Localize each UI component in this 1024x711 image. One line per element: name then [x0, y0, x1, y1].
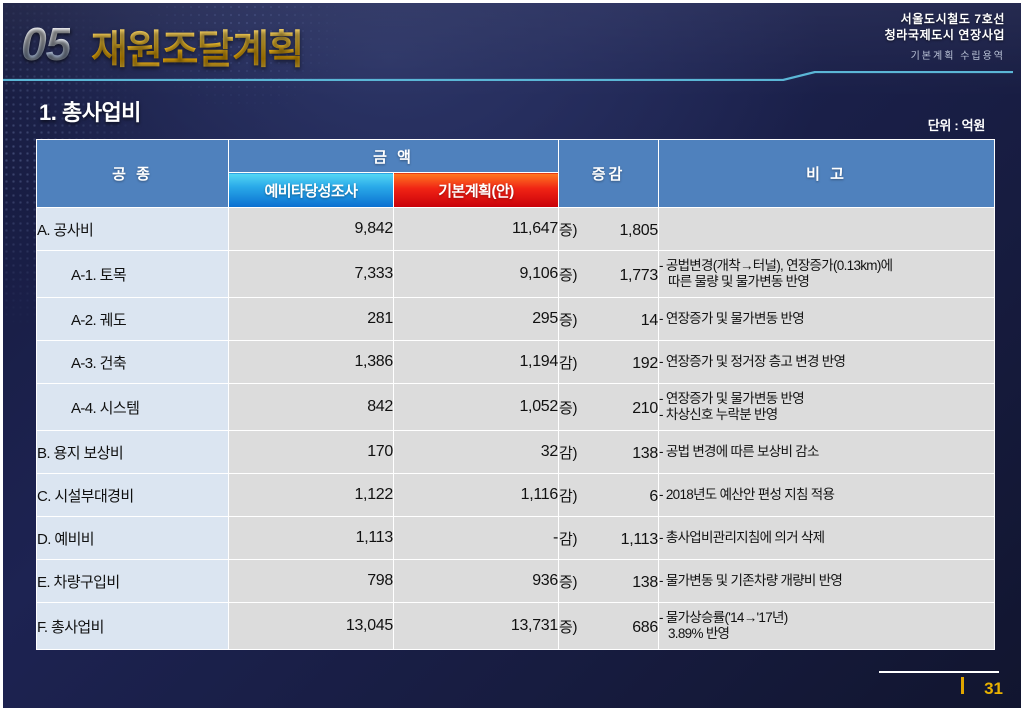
cell-preliminary-amount: 170 — [229, 431, 394, 474]
delta-value: 14 — [577, 312, 658, 330]
cell-basic-plan-amount: 1,194 — [394, 341, 559, 384]
cell-work-type: C. 시설부대경비 — [37, 474, 229, 517]
header-cell-preliminary-feasibility: 예비타당성조사 — [229, 173, 394, 208]
delta-sign: 증) — [559, 264, 577, 285]
cell-delta: 증)686 — [559, 603, 659, 650]
project-line-3: 기본계획 수립용역 — [885, 49, 1005, 65]
remark-line: - 공법 변경에 따른 보상비 감소 — [659, 444, 994, 460]
cell-work-type: F. 총사업비 — [37, 603, 229, 650]
delta-value: 686 — [577, 619, 658, 637]
cell-basic-plan-amount: - — [394, 517, 559, 560]
cell-remarks — [659, 208, 995, 251]
cell-basic-plan-amount: 1,052 — [394, 384, 559, 431]
delta-sign: 감) — [559, 352, 577, 373]
slide: 05 재원조달계획 서울도시철도 7호선 청라국제도시 연장사업 기본계획 수립… — [0, 0, 1024, 711]
remark-line: - 총사업비관리지침에 의거 삭제 — [659, 530, 994, 546]
cell-remarks: - 연장증가 및 물가변동 반영- 차상신호 누락분 반영 — [659, 384, 995, 431]
cell-remarks: - 물가상승률('14→'17년)3.89% 반영 — [659, 603, 995, 650]
table-row: B. 용지 보상비17032감)138- 공법 변경에 따른 보상비 감소 — [37, 431, 995, 474]
remark-line: - 공법변경(개착→터널), 연장증가(0.13km)에 — [659, 258, 994, 274]
delta-sign: 증) — [559, 309, 577, 330]
delta-value: 210 — [577, 400, 658, 418]
header-divider-rule — [3, 71, 1024, 81]
slide-header: 05 재원조달계획 서울도시철도 7호선 청라국제도시 연장사업 기본계획 수립… — [3, 9, 1024, 93]
delta-sign: 증) — [559, 397, 577, 418]
table-row: A-2. 궤도281295증)14- 연장증가 및 물가변동 반영 — [37, 298, 995, 341]
cell-work-type: A-3. 건축 — [37, 341, 229, 384]
table-row: A-3. 건축1,3861,194감)192- 연장증가 및 정거장 층고 변경… — [37, 341, 995, 384]
cell-work-type: E. 차량구입비 — [37, 560, 229, 603]
total-project-cost-table: 공 종 금 액 증감 비 고 예비타당성조사 기본계획(안) A. 공사비9,8… — [36, 139, 995, 650]
cell-delta: 증)210 — [559, 384, 659, 431]
cell-basic-plan-amount: 295 — [394, 298, 559, 341]
cell-basic-plan-amount: 13,731 — [394, 603, 559, 650]
section-heading: 1. 총사업비 — [39, 95, 141, 127]
cell-preliminary-amount: 7,333 — [229, 251, 394, 298]
delta-value: 1,805 — [577, 222, 658, 240]
cell-delta: 감)138 — [559, 431, 659, 474]
delta-value: 1,113 — [577, 531, 658, 549]
table-row: D. 예비비1,113-감)1,113- 총사업비관리지침에 의거 삭제 — [37, 517, 995, 560]
cell-remarks: - 연장증가 및 물가변동 반영 — [659, 298, 995, 341]
table-row: A. 공사비9,84211,647증)1,805 — [37, 208, 995, 251]
cell-delta: 증)1,773 — [559, 251, 659, 298]
delta-value: 192 — [577, 355, 658, 373]
cell-preliminary-amount: 1,122 — [229, 474, 394, 517]
cell-preliminary-amount: 9,842 — [229, 208, 394, 251]
table-row: C. 시설부대경비1,1221,116감)6- 2018년도 예산안 편성 지침… — [37, 474, 995, 517]
cell-preliminary-amount: 13,045 — [229, 603, 394, 650]
total-project-cost-table-wrapper: 공 종 금 액 증감 비 고 예비타당성조사 기본계획(안) A. 공사비9,8… — [36, 139, 994, 650]
cell-work-type: A-1. 토목 — [37, 251, 229, 298]
unit-note: 단위 : 억원 — [928, 115, 985, 134]
delta-sign: 감) — [559, 528, 577, 549]
header-cell-amount: 금 액 — [229, 140, 559, 173]
remark-line: - 2018년도 예산안 편성 지침 적용 — [659, 487, 994, 503]
cell-work-type: A-4. 시스템 — [37, 384, 229, 431]
cell-basic-plan-amount: 1,116 — [394, 474, 559, 517]
remark-line: 따른 물량 및 물가변동 반영 — [659, 274, 994, 290]
cell-remarks: - 공법변경(개착→터널), 연장증가(0.13km)에따른 물량 및 물가변동… — [659, 251, 995, 298]
cell-delta: 감)6 — [559, 474, 659, 517]
delta-value: 138 — [577, 574, 658, 592]
cell-delta: 증)1,805 — [559, 208, 659, 251]
table-row: A-4. 시스템8421,052증)210- 연장증가 및 물가변동 반영- 차… — [37, 384, 995, 431]
table-row: E. 차량구입비798936증)138- 물가변동 및 기존차량 개량비 반영 — [37, 560, 995, 603]
cell-remarks: - 공법 변경에 따른 보상비 감소 — [659, 431, 995, 474]
cell-preliminary-amount: 842 — [229, 384, 394, 431]
footer-rule — [879, 671, 999, 673]
project-line-1: 서울도시철도 7호선 — [885, 11, 1005, 27]
table-row: A-1. 토목7,3339,106증)1,773- 공법변경(개착→터널), 연… — [37, 251, 995, 298]
cell-remarks: - 총사업비관리지침에 의거 삭제 — [659, 517, 995, 560]
header-cell-basic-plan: 기본계획(안) — [394, 173, 559, 208]
cell-remarks: - 물가변동 및 기존차량 개량비 반영 — [659, 560, 995, 603]
cell-delta: 증)138 — [559, 560, 659, 603]
table-body: A. 공사비9,84211,647증)1,805A-1. 토목7,3339,10… — [37, 208, 995, 650]
remark-line: - 차상신호 누락분 반영 — [659, 407, 994, 423]
cell-basic-plan-amount: 11,647 — [394, 208, 559, 251]
slide-title: 재원조달계획 — [91, 17, 303, 75]
delta-value: 138 — [577, 445, 658, 463]
table-header-row-1: 공 종 금 액 증감 비 고 — [37, 140, 995, 173]
cell-basic-plan-amount: 936 — [394, 560, 559, 603]
cell-delta: 감)1,113 — [559, 517, 659, 560]
remark-line: - 연장증가 및 정거장 층고 변경 반영 — [659, 354, 994, 370]
cell-work-type: A. 공사비 — [37, 208, 229, 251]
cell-preliminary-amount: 798 — [229, 560, 394, 603]
delta-value: 6 — [577, 488, 658, 506]
section-number: 05 — [21, 17, 70, 71]
delta-sign: 증) — [559, 219, 577, 240]
cell-basic-plan-amount: 32 — [394, 431, 559, 474]
header-cell-remarks: 비 고 — [659, 140, 995, 208]
remark-line: - 물가변동 및 기존차량 개량비 반영 — [659, 573, 994, 589]
table-header: 공 종 금 액 증감 비 고 예비타당성조사 기본계획(안) — [37, 140, 995, 208]
cell-work-type: A-2. 궤도 — [37, 298, 229, 341]
cell-preliminary-amount: 281 — [229, 298, 394, 341]
cell-preliminary-amount: 1,386 — [229, 341, 394, 384]
header-cell-delta: 증감 — [559, 140, 659, 208]
remark-line: - 연장증가 및 물가변동 반영 — [659, 391, 994, 407]
remark-line: - 물가상승률('14→'17년) — [659, 610, 994, 626]
delta-sign: 감) — [559, 442, 577, 463]
header-cell-work-type: 공 종 — [37, 140, 229, 208]
delta-sign: 감) — [559, 485, 577, 506]
delta-sign: 증) — [559, 571, 577, 592]
footer-accent-bar — [961, 677, 964, 694]
project-line-2: 청라국제도시 연장사업 — [885, 27, 1005, 43]
cell-delta: 감)192 — [559, 341, 659, 384]
cell-delta: 증)14 — [559, 298, 659, 341]
delta-value: 1,773 — [577, 267, 658, 285]
cell-remarks: - 2018년도 예산안 편성 지침 적용 — [659, 474, 995, 517]
table-row: F. 총사업비13,04513,731증)686- 물가상승률('14→'17년… — [37, 603, 995, 650]
cell-work-type: B. 용지 보상비 — [37, 431, 229, 474]
remark-line: - 연장증가 및 물가변동 반영 — [659, 311, 994, 327]
page-number: 31 — [984, 679, 1003, 699]
project-identity: 서울도시철도 7호선 청라국제도시 연장사업 기본계획 수립용역 — [885, 11, 1005, 65]
delta-sign: 증) — [559, 616, 577, 637]
cell-basic-plan-amount: 9,106 — [394, 251, 559, 298]
cell-preliminary-amount: 1,113 — [229, 517, 394, 560]
remark-line: 3.89% 반영 — [659, 626, 994, 642]
cell-work-type: D. 예비비 — [37, 517, 229, 560]
cell-remarks: - 연장증가 및 정거장 층고 변경 반영 — [659, 341, 995, 384]
